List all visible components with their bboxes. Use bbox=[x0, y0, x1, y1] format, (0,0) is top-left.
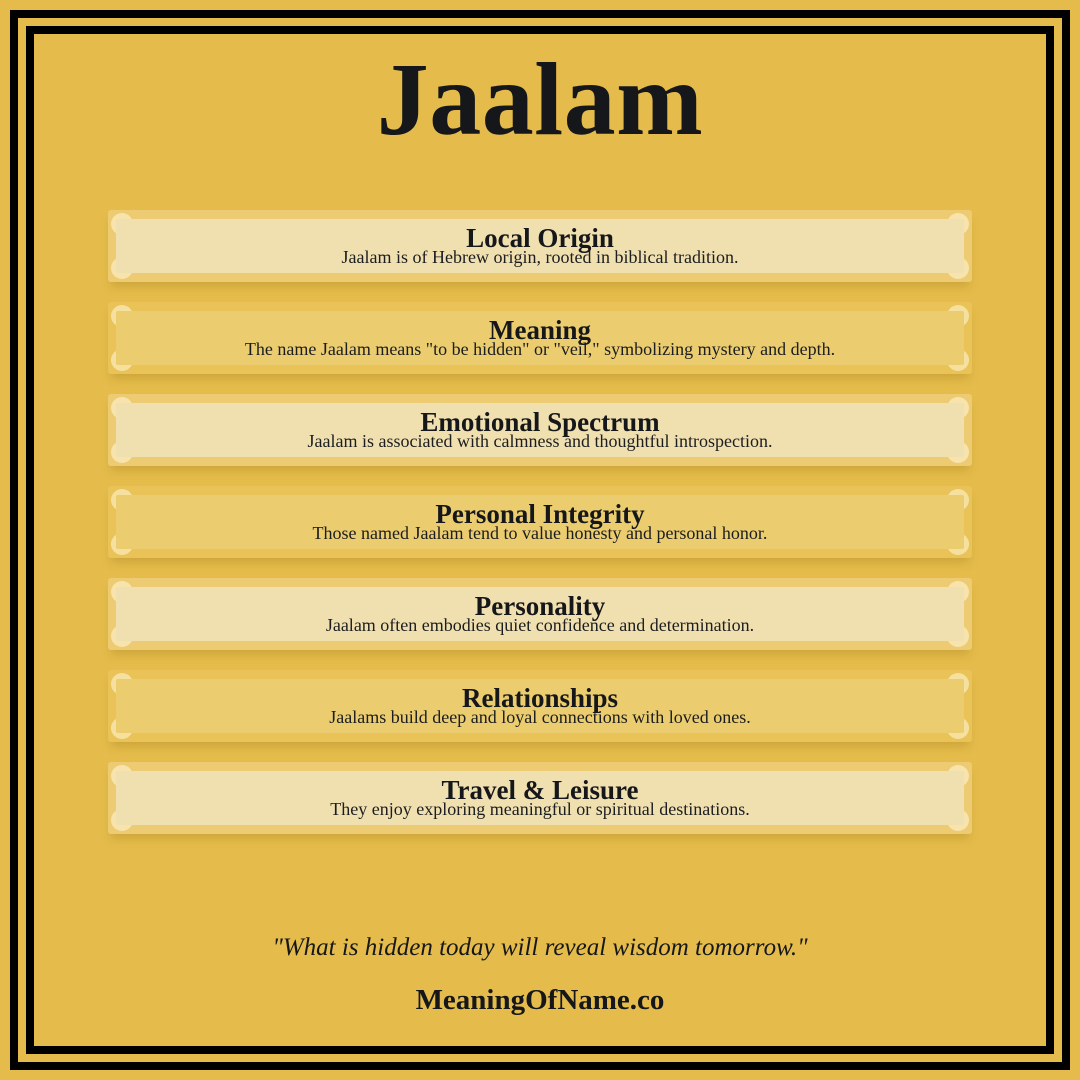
card-text: Travel & LeisureThey enjoy exploring mea… bbox=[108, 762, 972, 834]
attribute-card-list: Local OriginJaalam is of Hebrew origin, … bbox=[108, 210, 972, 834]
card-description: They enjoy exploring meaningful or spiri… bbox=[330, 800, 749, 818]
card-description: Those named Jaalam tend to value honesty… bbox=[313, 524, 768, 542]
name-card-page: Jaalam Local OriginJaalam is of Hebrew o… bbox=[34, 34, 1046, 1046]
card-text: Local OriginJaalam is of Hebrew origin, … bbox=[108, 210, 972, 282]
card-text: Personal IntegrityThose named Jaalam ten… bbox=[108, 486, 972, 558]
card-description: Jaalam often embodies quiet confidence a… bbox=[326, 616, 754, 634]
attribute-card: Emotional SpectrumJaalam is associated w… bbox=[108, 394, 972, 466]
card-text: Emotional SpectrumJaalam is associated w… bbox=[108, 394, 972, 466]
attribute-card: MeaningThe name Jaalam means "to be hidd… bbox=[108, 302, 972, 374]
card-description: Jaalam is of Hebrew origin, rooted in bi… bbox=[342, 248, 739, 266]
attribute-card: RelationshipsJaalams build deep and loya… bbox=[108, 670, 972, 742]
card-text: MeaningThe name Jaalam means "to be hidd… bbox=[108, 302, 972, 374]
attribute-card: PersonalityJaalam often embodies quiet c… bbox=[108, 578, 972, 650]
footer-brand: MeaningOfName.co bbox=[34, 984, 1046, 1017]
card-description: Jaalam is associated with calmness and t… bbox=[308, 432, 773, 450]
card-description: The name Jaalam means "to be hidden" or … bbox=[245, 340, 835, 358]
footer-quote: "What is hidden today will reveal wisdom… bbox=[34, 934, 1046, 962]
page-title: Jaalam bbox=[34, 40, 1046, 160]
card-text: PersonalityJaalam often embodies quiet c… bbox=[108, 578, 972, 650]
attribute-card: Personal IntegrityThose named Jaalam ten… bbox=[108, 486, 972, 558]
card-text: RelationshipsJaalams build deep and loya… bbox=[108, 670, 972, 742]
attribute-card: Travel & LeisureThey enjoy exploring mea… bbox=[108, 762, 972, 834]
attribute-card: Local OriginJaalam is of Hebrew origin, … bbox=[108, 210, 972, 282]
card-description: Jaalams build deep and loyal connections… bbox=[329, 708, 750, 726]
